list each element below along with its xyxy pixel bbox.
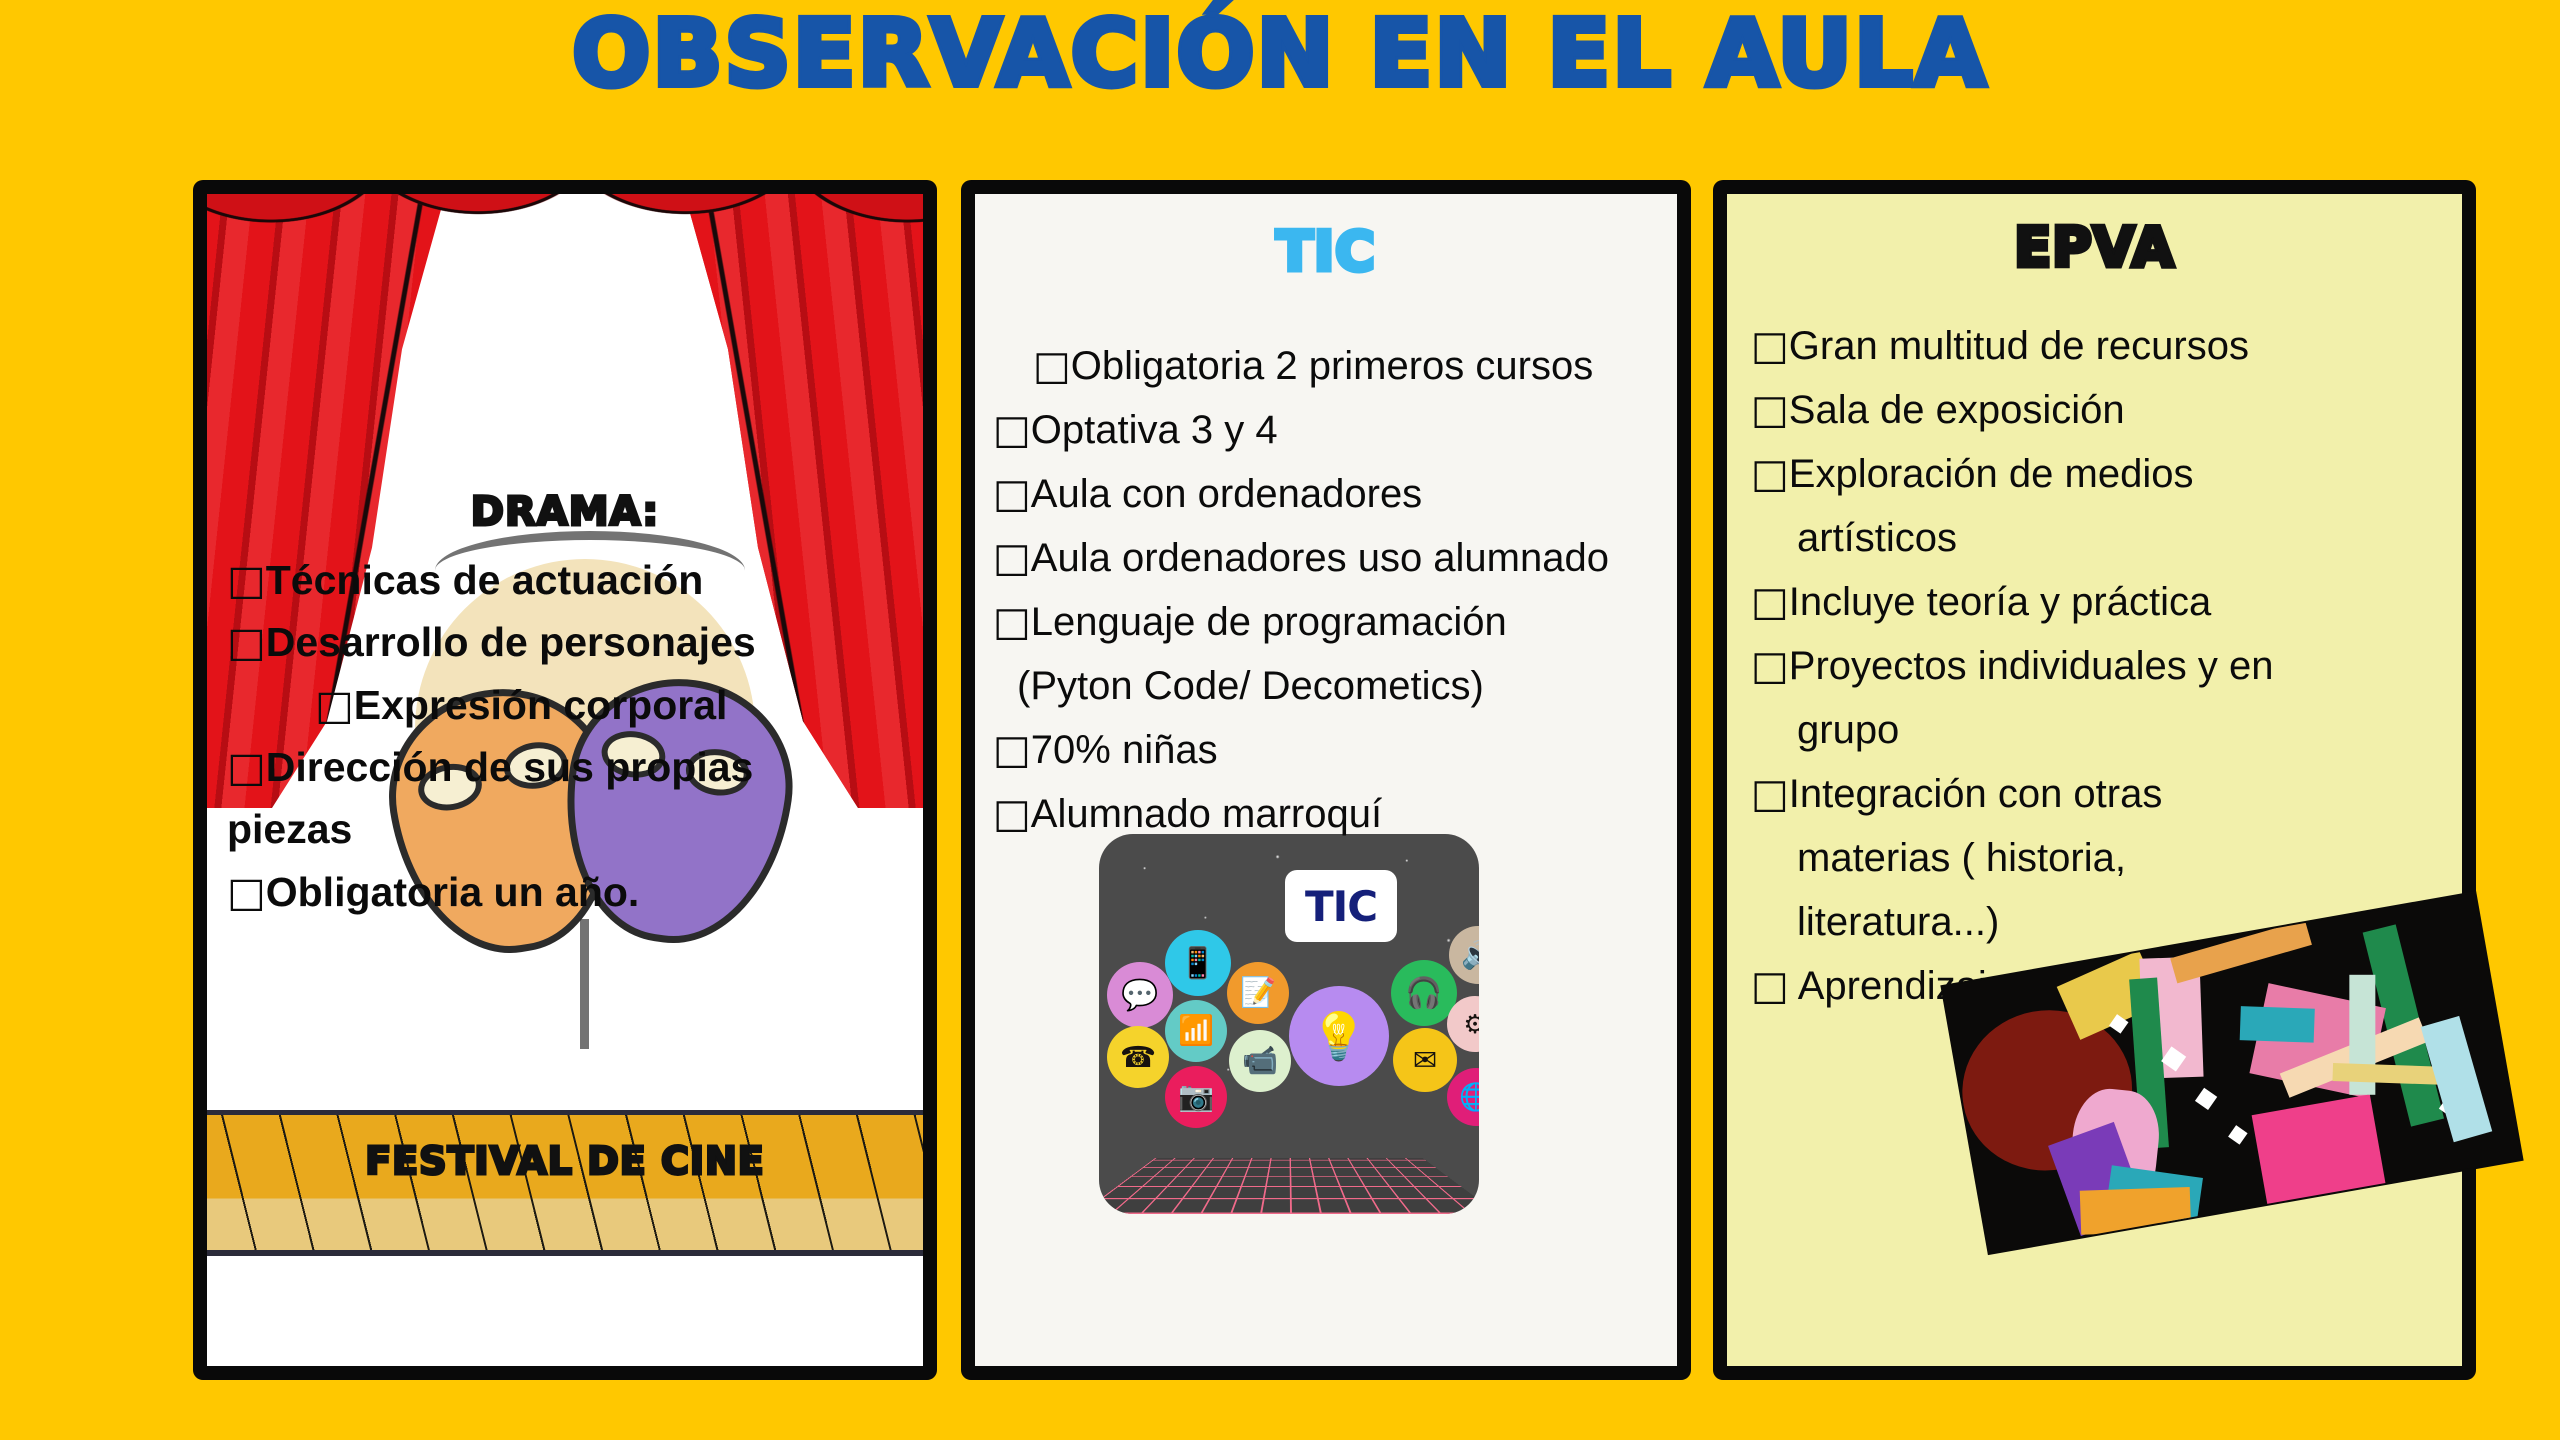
list-item: □Proyectos individuales y en	[1751, 634, 2476, 698]
drama-subheading: FESTIVAL DE CINE	[207, 1139, 923, 1183]
list-item: □Técnicas de actuación	[227, 549, 937, 611]
artwork-shape	[2228, 1125, 2247, 1144]
list-item: □Dirección de sus propias	[227, 736, 937, 798]
lightbulb-icon: 💡	[1289, 986, 1389, 1086]
tic-icons-illustration: TIC 💬📱📝📶☎📷📹💡🎧✉⚙🌐🔊	[1099, 834, 1479, 1214]
page-title: Observación en el aula	[0, 6, 2560, 103]
panel-drama: DRAMA: □Técnicas de actuación □Desarroll…	[193, 180, 937, 1380]
list-item: (Pyton Code/ Decometics)	[993, 654, 1691, 718]
epva-heading: EPVA	[1727, 216, 2462, 279]
list-item: materias ( historia,	[1751, 826, 2476, 890]
envelope-icon: ✉	[1393, 1028, 1457, 1092]
list-item: □Sala de exposición	[1751, 378, 2476, 442]
tic-badge-label: TIC	[1285, 870, 1397, 942]
list-item: □Expresión corporal	[227, 674, 937, 736]
tic-heading: TIC	[975, 220, 1677, 283]
list-item: □Desarrollo de personajes	[227, 611, 937, 673]
list-item: □Lenguaje de programación	[993, 590, 1691, 654]
list-item: grupo	[1751, 698, 2476, 762]
list-item: □Optativa 3 y 4	[993, 398, 1691, 462]
artwork-shape	[2195, 1088, 2217, 1110]
drama-bullet-list: □Técnicas de actuación □Desarrollo de pe…	[207, 549, 937, 923]
list-item: □Gran multitud de recursos	[1751, 314, 2476, 378]
list-item: □Obligatoria un año.	[227, 861, 937, 923]
list-item: □Aula ordenadores uso alumnado	[993, 526, 1691, 590]
list-item: □Exploración de medios	[1751, 442, 2476, 506]
artwork-shape	[2240, 1006, 2315, 1043]
perspective-grid	[1099, 1158, 1479, 1214]
stage-floor	[197, 1110, 937, 1256]
video-camera-icon: 📹	[1229, 1030, 1291, 1092]
drama-heading: DRAMA:	[207, 489, 923, 535]
smartphone-icon: 📱	[1165, 930, 1231, 996]
list-item: piezas	[227, 798, 937, 860]
phone-icon: ☎	[1107, 1026, 1169, 1088]
chat-bubble-icon: 💬	[1107, 962, 1173, 1028]
list-item: □Integración con otras	[1751, 762, 2476, 826]
list-item: □Obligatoria 2 primeros cursos	[993, 334, 1691, 398]
list-item: artísticos	[1751, 506, 2476, 570]
panel-tic: TIC □Obligatoria 2 primeros cursos □Opta…	[961, 180, 1691, 1380]
camera-icon: 📷	[1165, 1066, 1227, 1128]
list-item: □Alumnado marroquí	[993, 782, 1691, 846]
list-item: □70% niñas	[993, 718, 1691, 782]
wifi-icon: 📶	[1165, 1000, 1227, 1062]
curtain-swag-icon	[197, 188, 937, 398]
document-icon: 📝	[1227, 962, 1289, 1024]
list-item: □Incluye teoría y práctica	[1751, 570, 2476, 634]
tic-bullet-list: □Obligatoria 2 primeros cursos □Optativa…	[975, 334, 1691, 846]
list-item: □Aula con ordenadores	[993, 462, 1691, 526]
